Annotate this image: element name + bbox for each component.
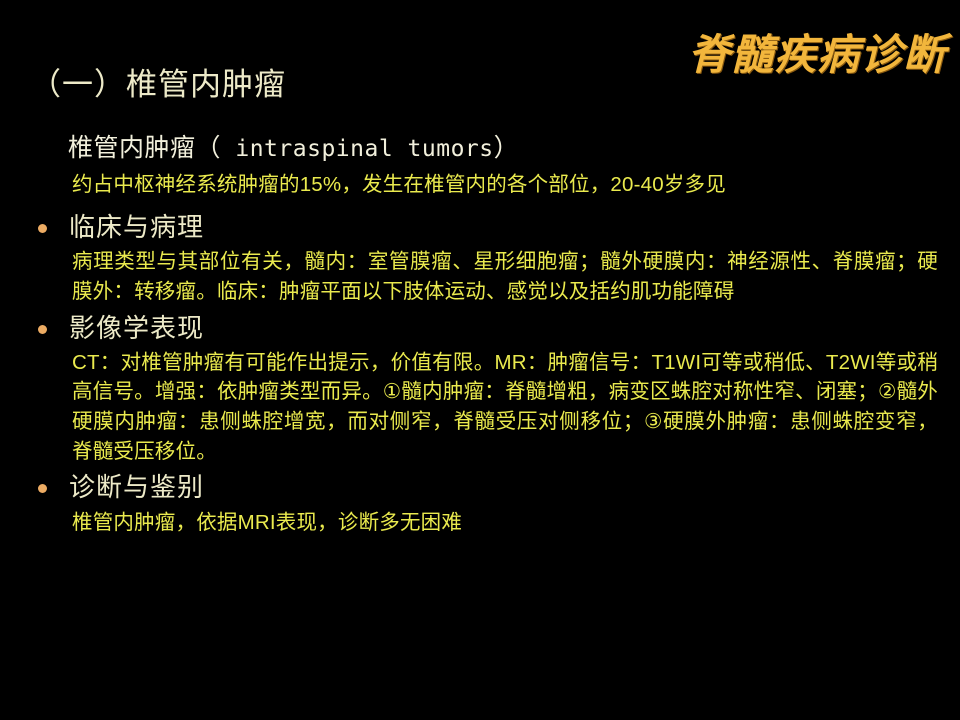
bullet-dot-icon	[38, 484, 47, 493]
content-block-diagnosis: 诊断与鉴别 椎管内肿瘤，依据MRI表现，诊断多无困难	[22, 470, 938, 537]
content-block-clinical: 临床与病理 病理类型与其部位有关，髓内：室管膜瘤、星形细胞瘤；髓外硬膜内：神经源…	[22, 210, 938, 307]
bullet-heading-imaging: 影像学表现	[22, 311, 938, 346]
paragraph-clinical: 病理类型与其部位有关，髓内：室管膜瘤、星形细胞瘤；髓外硬膜内：神经源性、脊膜瘤；…	[72, 247, 938, 306]
intro-paragraph: 约占中枢神经系统肿瘤的15%，发生在椎管内的各个部位，20-40岁多见	[72, 170, 938, 200]
bullet-label-clinical: 临床与病理	[69, 210, 204, 245]
bullet-label-imaging: 影像学表现	[69, 311, 204, 346]
topic-subheading: 椎管内肿瘤（ intraspinal tumors）	[68, 133, 938, 164]
paragraph-diagnosis: 椎管内肿瘤，依据MRI表现，诊断多无困难	[72, 508, 938, 538]
bullet-heading-clinical: 临床与病理	[22, 210, 938, 245]
presentation-slide: 脊髓疾病诊断 （一）椎管内肿瘤 椎管内肿瘤（ intraspinal tumor…	[0, 0, 960, 720]
topic-subheading-cn: 椎管内肿瘤（	[68, 134, 221, 162]
content-block-imaging: 影像学表现 CT：对椎管肿瘤有可能作出提示，价值有限。MR：肿瘤信号：T1WI可…	[22, 311, 938, 467]
bullet-dot-icon	[38, 325, 47, 334]
page-title: （一）椎管内肿瘤	[30, 66, 286, 103]
bullet-dot-icon	[38, 224, 47, 233]
bullet-heading-diagnosis: 诊断与鉴别	[22, 470, 938, 505]
topic-subheading-latin: intraspinal tumors	[221, 136, 494, 162]
topic-subheading-close: ）	[494, 134, 520, 162]
paragraph-imaging: CT：对椎管肿瘤有可能作出提示，价值有限。MR：肿瘤信号：T1WI可等或稍低、T…	[72, 348, 938, 467]
bullet-label-diagnosis: 诊断与鉴别	[69, 470, 204, 505]
slide-content-body: 椎管内肿瘤（ intraspinal tumors） 约占中枢神经系统肿瘤的15…	[22, 133, 938, 541]
slide-banner-title: 脊髓疾病诊断	[688, 34, 946, 76]
